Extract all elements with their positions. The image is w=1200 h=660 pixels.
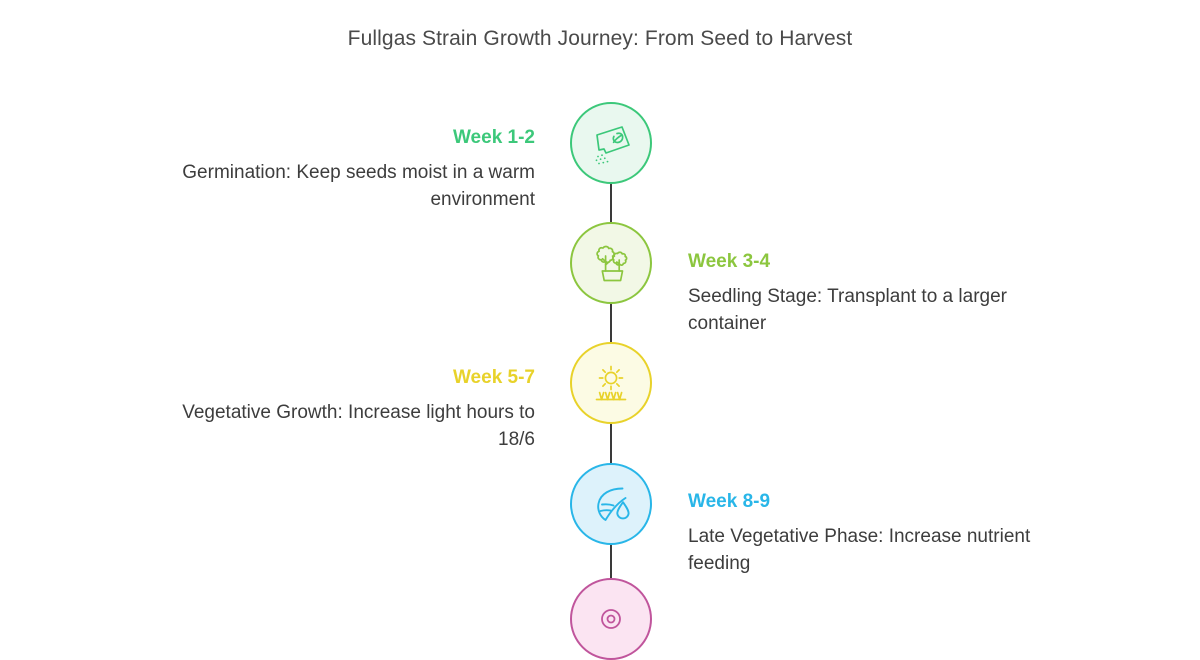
seed-packet-icon	[586, 118, 636, 168]
timeline-connector	[610, 424, 612, 463]
timeline-entry-week-8-9: Week 8-9 Late Vegetative Phase: Increase…	[688, 492, 1068, 578]
leaf-water-drop-icon	[586, 479, 636, 529]
week-label: Week 8-9	[688, 492, 1068, 513]
timeline-entry-week-5-7: Week 5-7 Vegetative Growth: Increase lig…	[155, 368, 535, 454]
week-label: Week 1-2	[155, 128, 535, 149]
timeline-node-week-3-4[interactable]	[570, 222, 652, 304]
timeline-connector	[610, 545, 612, 578]
timeline-node-week-1-2[interactable]	[570, 102, 652, 184]
timeline-node-week-5-7[interactable]	[570, 342, 652, 424]
step-description: Vegetative Growth: Increase light hours …	[155, 400, 535, 454]
timeline-connector	[610, 184, 612, 222]
timeline-connector	[610, 304, 612, 342]
week-label: Week 3-4	[688, 252, 1068, 273]
week-label: Week 5-7	[155, 368, 535, 389]
timeline-node-flowering[interactable]	[570, 578, 652, 660]
flower-bud-icon	[586, 594, 636, 644]
growth-journey-timeline: Week 1-2 Germination: Keep seeds moist i…	[0, 0, 1200, 600]
step-description: Seedling Stage: Transplant to a larger c…	[688, 284, 1068, 338]
timeline-entry-week-3-4: Week 3-4 Seedling Stage: Transplant to a…	[688, 252, 1068, 338]
step-description: Germination: Keep seeds moist in a warm …	[155, 160, 535, 214]
timeline-entry-week-1-2: Week 1-2 Germination: Keep seeds moist i…	[155, 128, 535, 214]
step-description: Late Vegetative Phase: Increase nutrient…	[688, 524, 1068, 578]
seedlings-in-pot-icon	[586, 238, 636, 288]
sun-over-sprouts-icon	[586, 358, 636, 408]
timeline-node-week-8-9[interactable]	[570, 463, 652, 545]
